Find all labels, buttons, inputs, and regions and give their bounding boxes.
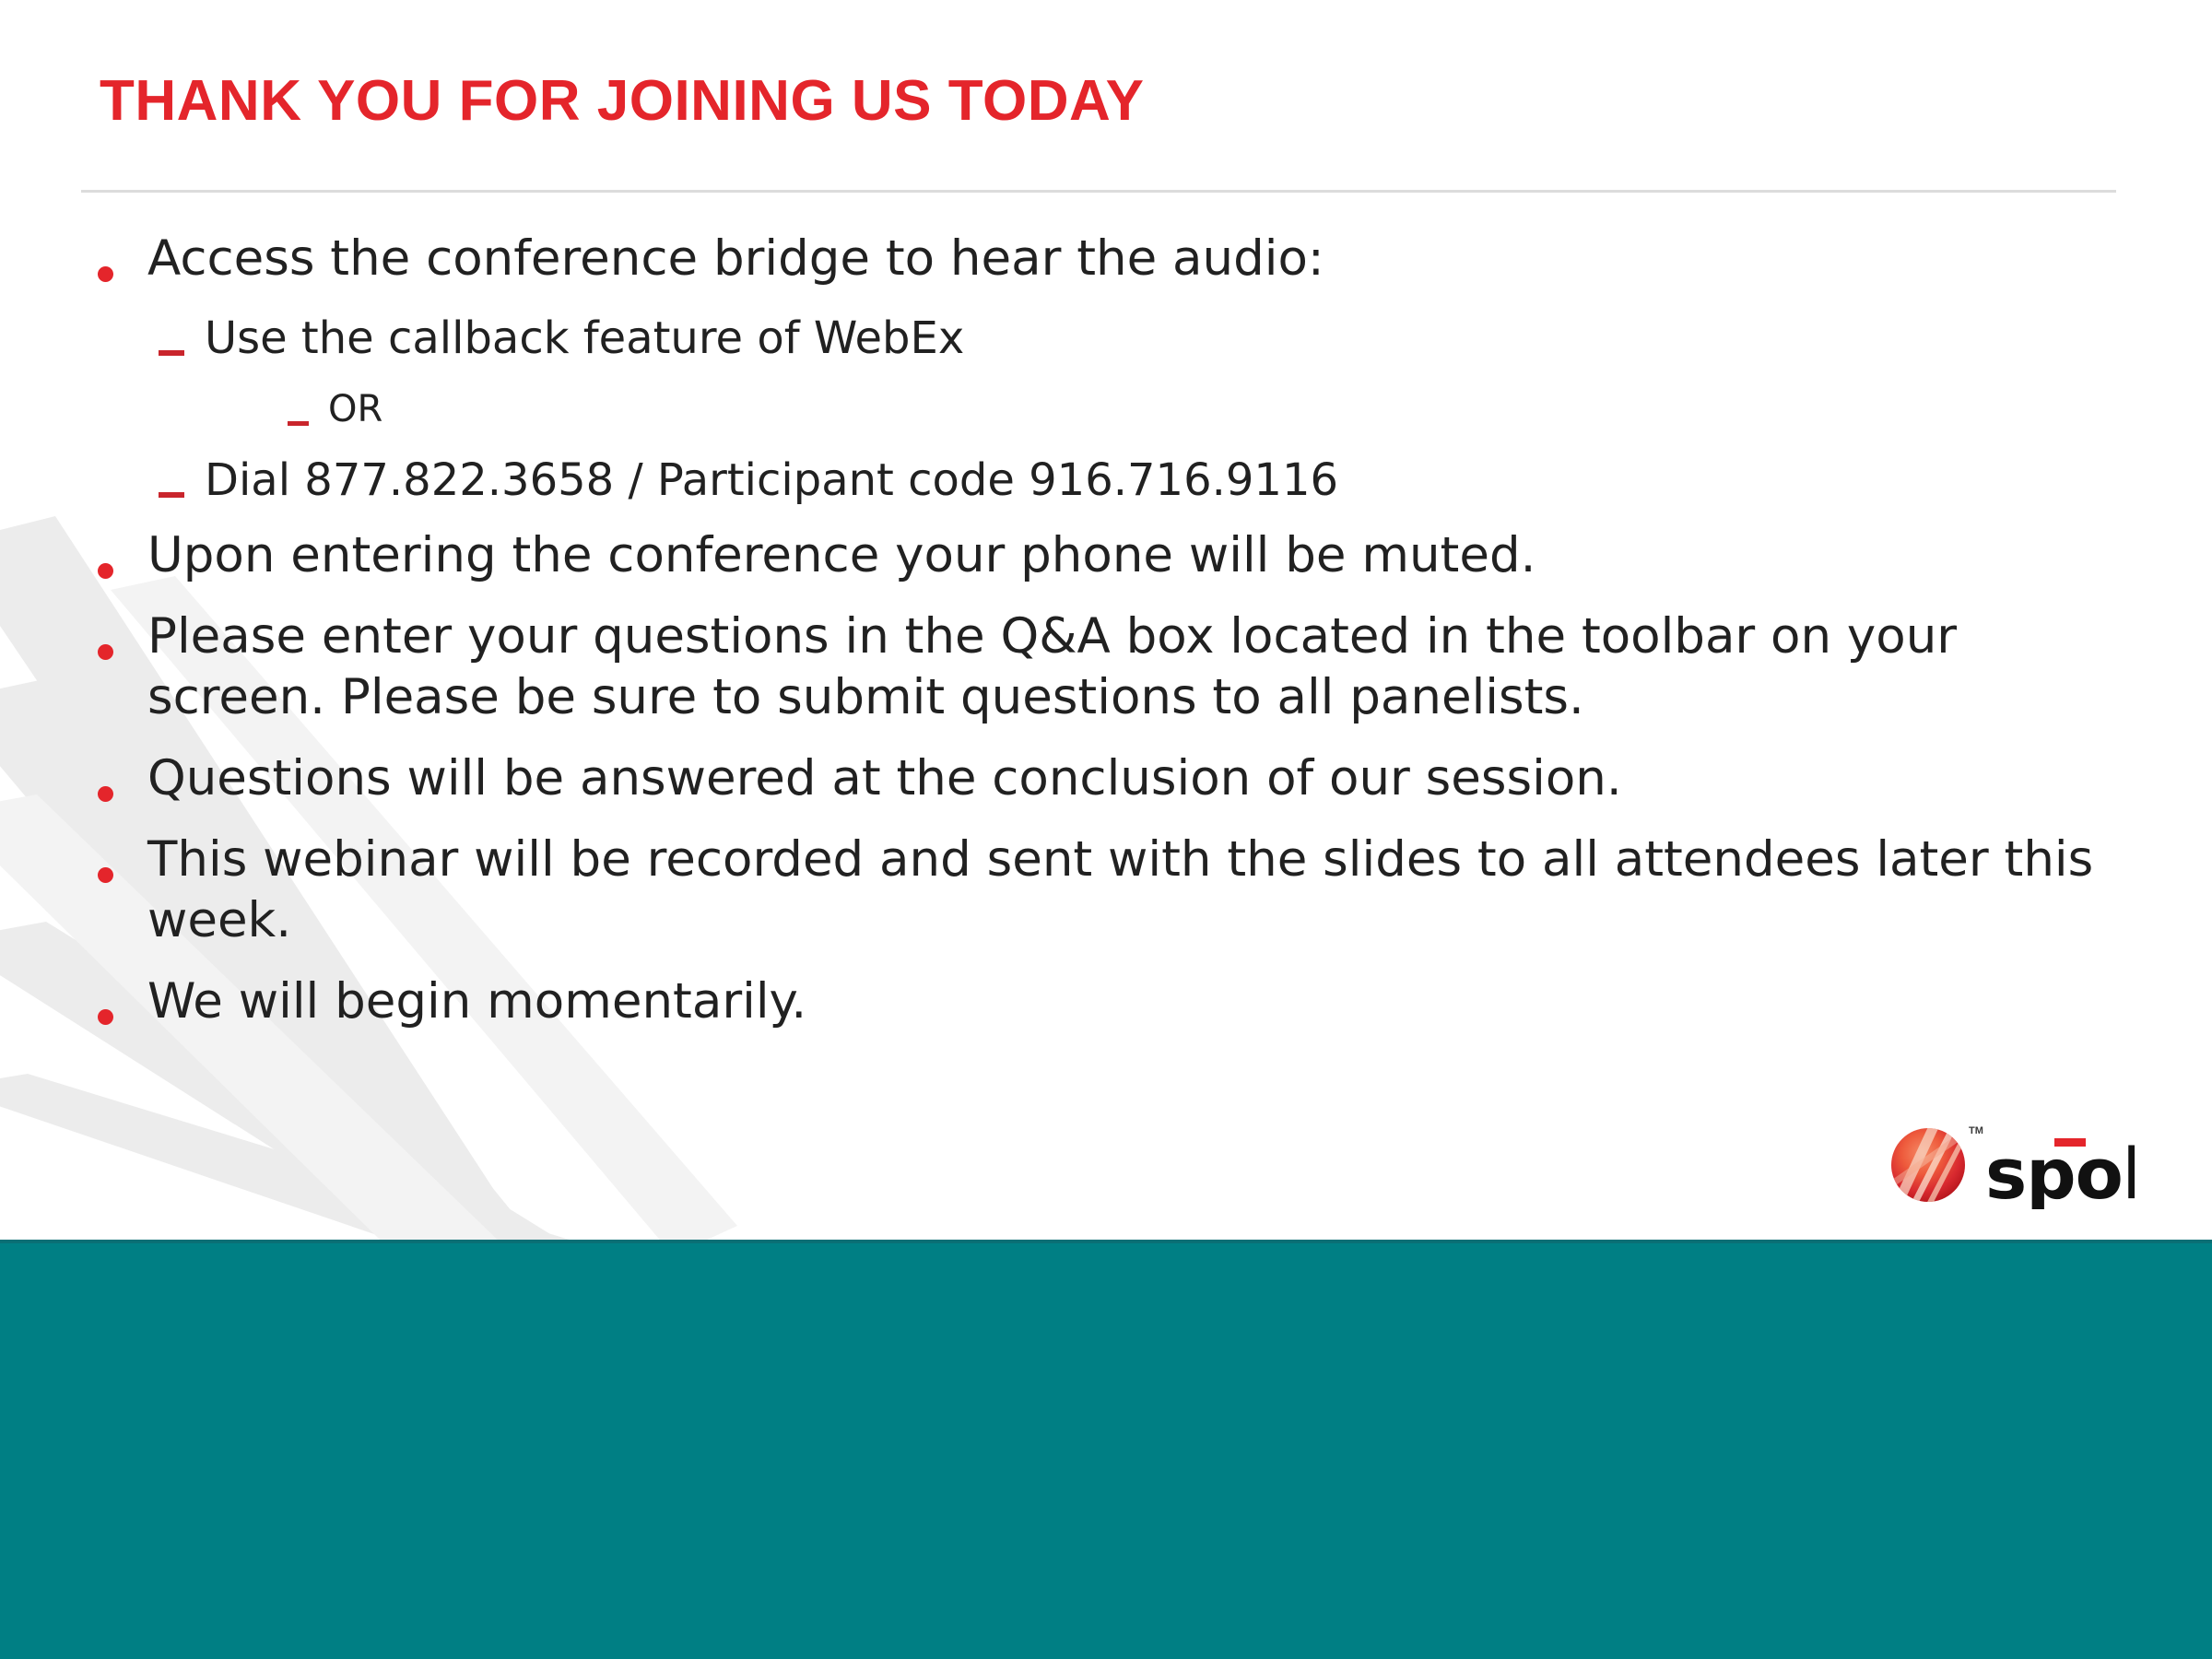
list-item-label: Questions will be answered at the conclu… (147, 748, 2101, 809)
bullet-dot-icon (96, 525, 147, 586)
list-item: Questions will be answered at the conclu… (0, 748, 2212, 809)
list-item: OR (0, 383, 2212, 435)
bullet-dash-icon (159, 452, 205, 509)
list-item: Upon entering the conference your phone … (0, 525, 2212, 586)
spok-wordmark: spok (1985, 1133, 2135, 1209)
bullet-dash-icon (159, 310, 205, 367)
bullet-dot-icon (96, 748, 147, 809)
trademark-mark: TM (1969, 1125, 1983, 1136)
title-divider (81, 190, 2116, 193)
list-item: We will begin momentarily. (0, 971, 2212, 1032)
list-item-label: OR (328, 383, 2212, 435)
bullet-list: Access the conference bridge to hear the… (0, 229, 2212, 1053)
list-item: Please enter your questions in the Q&A b… (0, 606, 2212, 728)
list-item-label: This webinar will be recorded and sent w… (147, 829, 2101, 951)
list-item: Dial 877.822.3658 / Participant code 916… (0, 452, 2212, 509)
list-item: Use the callback feature of WebEx (0, 310, 2212, 367)
page-title: THANK YOU FOR JOINING US TODAY (100, 68, 1144, 134)
bullet-dot-icon (96, 971, 147, 1032)
slide-canvas: THANK YOU FOR JOINING US TODAY Access th… (0, 0, 2212, 1659)
list-item-label: We will begin momentarily. (147, 971, 2101, 1032)
footer-accent-band (0, 1240, 2212, 1659)
list-item-label: Access the conference bridge to hear the… (147, 229, 2101, 289)
bullet-dash-icon (288, 383, 328, 435)
spok-logo: TM spok (1888, 1113, 2135, 1209)
list-item-label: Please enter your questions in the Q&A b… (147, 606, 2101, 728)
footer-accent-band-edge (0, 1240, 2212, 1243)
bullet-dot-icon (96, 829, 147, 890)
list-item-label: Use the callback feature of WebEx (205, 310, 2094, 367)
list-item-label: Upon entering the conference your phone … (147, 525, 2101, 586)
bullet-dot-icon (96, 606, 147, 667)
bullet-dot-icon (96, 229, 147, 289)
list-item: This webinar will be recorded and sent w… (0, 829, 2212, 951)
list-item: Access the conference bridge to hear the… (0, 229, 2212, 289)
list-item-label: Dial 877.822.3658 / Participant code 916… (205, 452, 2094, 509)
